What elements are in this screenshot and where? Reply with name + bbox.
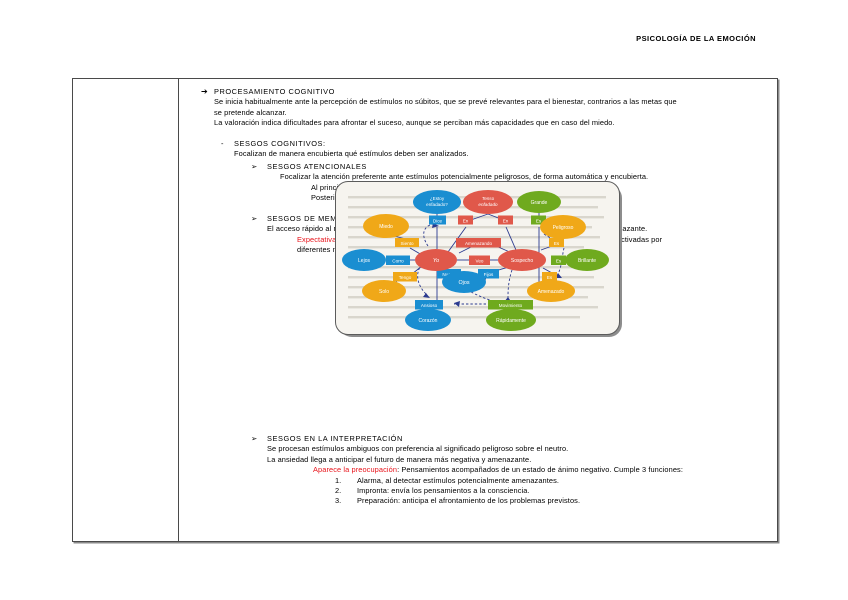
node-lejos: Lejos [342,249,386,271]
svg-text:Grande: Grande [531,200,548,206]
svg-text:Miedo: Miedo [379,224,393,230]
sub3-title: SESGOS EN LA INTERPRETACIÓN [267,434,403,444]
list-number: 2. [335,486,357,496]
section1-line1: Se inicia habitualmente ante la percepci… [214,97,786,107]
semantic-network-figure: Dice En En Es Siento Amenazando Es Corro… [335,181,618,333]
svg-text:Lejos: Lejos [358,258,370,264]
link-label-ansioso: Ansioso [415,300,443,310]
svg-text:Rápidamente: Rápidamente [496,318,526,324]
section-sesgos-cognitivos: - SESGOS COGNITIVOS: Focalizan de manera… [221,139,781,160]
sub3-line2: La ansiedad llega a anticipar el futuro … [267,455,799,465]
node-solo: Solo [362,280,406,302]
link-label-es-3: Es [551,256,566,266]
table-column-left-empty [73,79,179,541]
sub3-line1: Se procesan estímulos ambiguos con prefe… [267,444,799,454]
dash-bullet-icon: - [221,139,234,149]
link-label-veo: Veo [469,256,490,266]
node-tenso-enfadado: Tenso enfadado [463,190,513,214]
svg-text:Amenazado: Amenazado [538,289,565,295]
link-label-movimiento: Movimiento [488,300,533,310]
svg-text:enfadado: enfadado [478,202,498,207]
svg-text:Ansioso: Ansioso [421,303,438,308]
svg-text:Fijos: Fijos [484,272,494,277]
running-header: PSICOLOGÍA DE LA EMOCIÓN [636,34,756,43]
list-item-text: Preparación: anticipa el afrontamiento d… [357,496,799,506]
list-item-text: Alarma, al detectar estímulos potencialm… [357,476,799,486]
node-corazon: Corazón [405,309,451,331]
svg-text:Sospecho: Sospecho [511,258,533,264]
document-page: PSICOLOGÍA DE LA EMOCIÓN ➔ PROCESAMIENTO… [0,0,848,600]
sub3-highlight: Aparece la preocupación [313,465,397,474]
section1-line2: se pretende alcanzar. [214,108,786,118]
network-diagram-svg: Dice En En Es Siento Amenazando Es Corro… [336,182,619,334]
svg-text:Movimiento: Movimiento [499,303,523,308]
svg-text:Peligroso: Peligroso [553,225,574,231]
svg-text:Tengo: Tengo [399,275,412,280]
node-sospecho: Sospecho [498,249,546,271]
list-number: 1. [335,476,357,486]
svg-text:Es: Es [536,218,542,223]
list-item: 3. Preparación: anticipa el afrontamient… [335,496,799,506]
svg-text:Es: Es [547,275,553,280]
list-number: 3. [335,496,357,506]
figure-frame: Dice En En Es Siento Amenazando Es Corro… [335,181,620,335]
triangle-bullet-icon: ➢ [251,434,267,444]
sub3-line3: : Pensamientos acompañados de un estado … [397,465,683,474]
node-peligroso: Peligroso [540,215,586,239]
node-miedo: Miedo [363,214,409,238]
section-procesamiento-cognitivo: ➔ PROCESAMIENTO COGNITIVO Se inicia habi… [201,87,786,129]
svg-text:Es: Es [554,241,560,246]
node-estoy-enfadado: ¿Estoy enfadado? [413,190,461,214]
node-yo: Yo [415,249,457,271]
node-amenazado: Amenazado [527,280,575,302]
section2-line1: Focalizan de manera encubierta qué estím… [234,149,781,159]
node-rapidamente: Rápidamente [486,309,536,331]
svg-text:En: En [503,218,509,223]
node-ojos: Ojos [442,271,486,293]
svg-text:Corazón: Corazón [419,318,438,324]
link-label-es-2: Es [549,238,564,247]
svg-text:Es: Es [556,259,562,264]
section1-line3: La valoración indica dificultades para a… [214,118,786,128]
link-label-tengo: Tengo [393,272,417,282]
svg-text:enfadado?: enfadado? [426,202,448,207]
svg-text:Brillante: Brillante [578,258,596,264]
svg-text:Veo: Veo [476,259,484,264]
link-label-en-2: En [498,216,513,225]
section-sesgos-interpretacion: ➢ SESGOS EN LA INTERPRETACIÓN Se procesa… [251,434,799,507]
section1-title: PROCESAMIENTO COGNITIVO [214,87,335,97]
list-item: 1. Alarma, al detectar estímulos potenci… [335,476,799,486]
svg-text:Ojos: Ojos [458,280,469,286]
link-label-amenazando: Amenazando [456,238,501,248]
svg-text:En: En [463,218,469,223]
link-label-en-1: En [458,216,473,225]
svg-text:Solo: Solo [379,289,389,295]
link-label-siento: Siento [395,238,419,247]
link-label-dice: Dice [429,216,446,225]
section2-title: SESGOS COGNITIVOS: [234,139,326,149]
node-grande: Grande [517,191,561,213]
svg-text:Tenso: Tenso [482,196,495,201]
triangle-bullet-icon: ➢ [251,162,267,172]
svg-text:Dice: Dice [433,218,443,223]
sub1-title: SESGOS ATENCIONALES [267,162,367,172]
list-item: 2. Impronta: envía los pensamientos a la… [335,486,799,496]
svg-text:Corro: Corro [392,259,404,264]
triangle-bullet-icon: ➢ [251,214,267,224]
svg-text:Amenazando: Amenazando [465,241,493,246]
svg-text:Siento: Siento [400,241,413,246]
link-label-corro: Corro [386,256,410,266]
arrow-bullet-icon: ➔ [201,87,214,97]
svg-text:Yo: Yo [433,258,439,264]
list-item-text: Impronta: envía los pensamientos a la co… [357,486,799,496]
node-brillante: Brillante [565,249,609,271]
svg-text:¿Estoy: ¿Estoy [430,196,445,201]
